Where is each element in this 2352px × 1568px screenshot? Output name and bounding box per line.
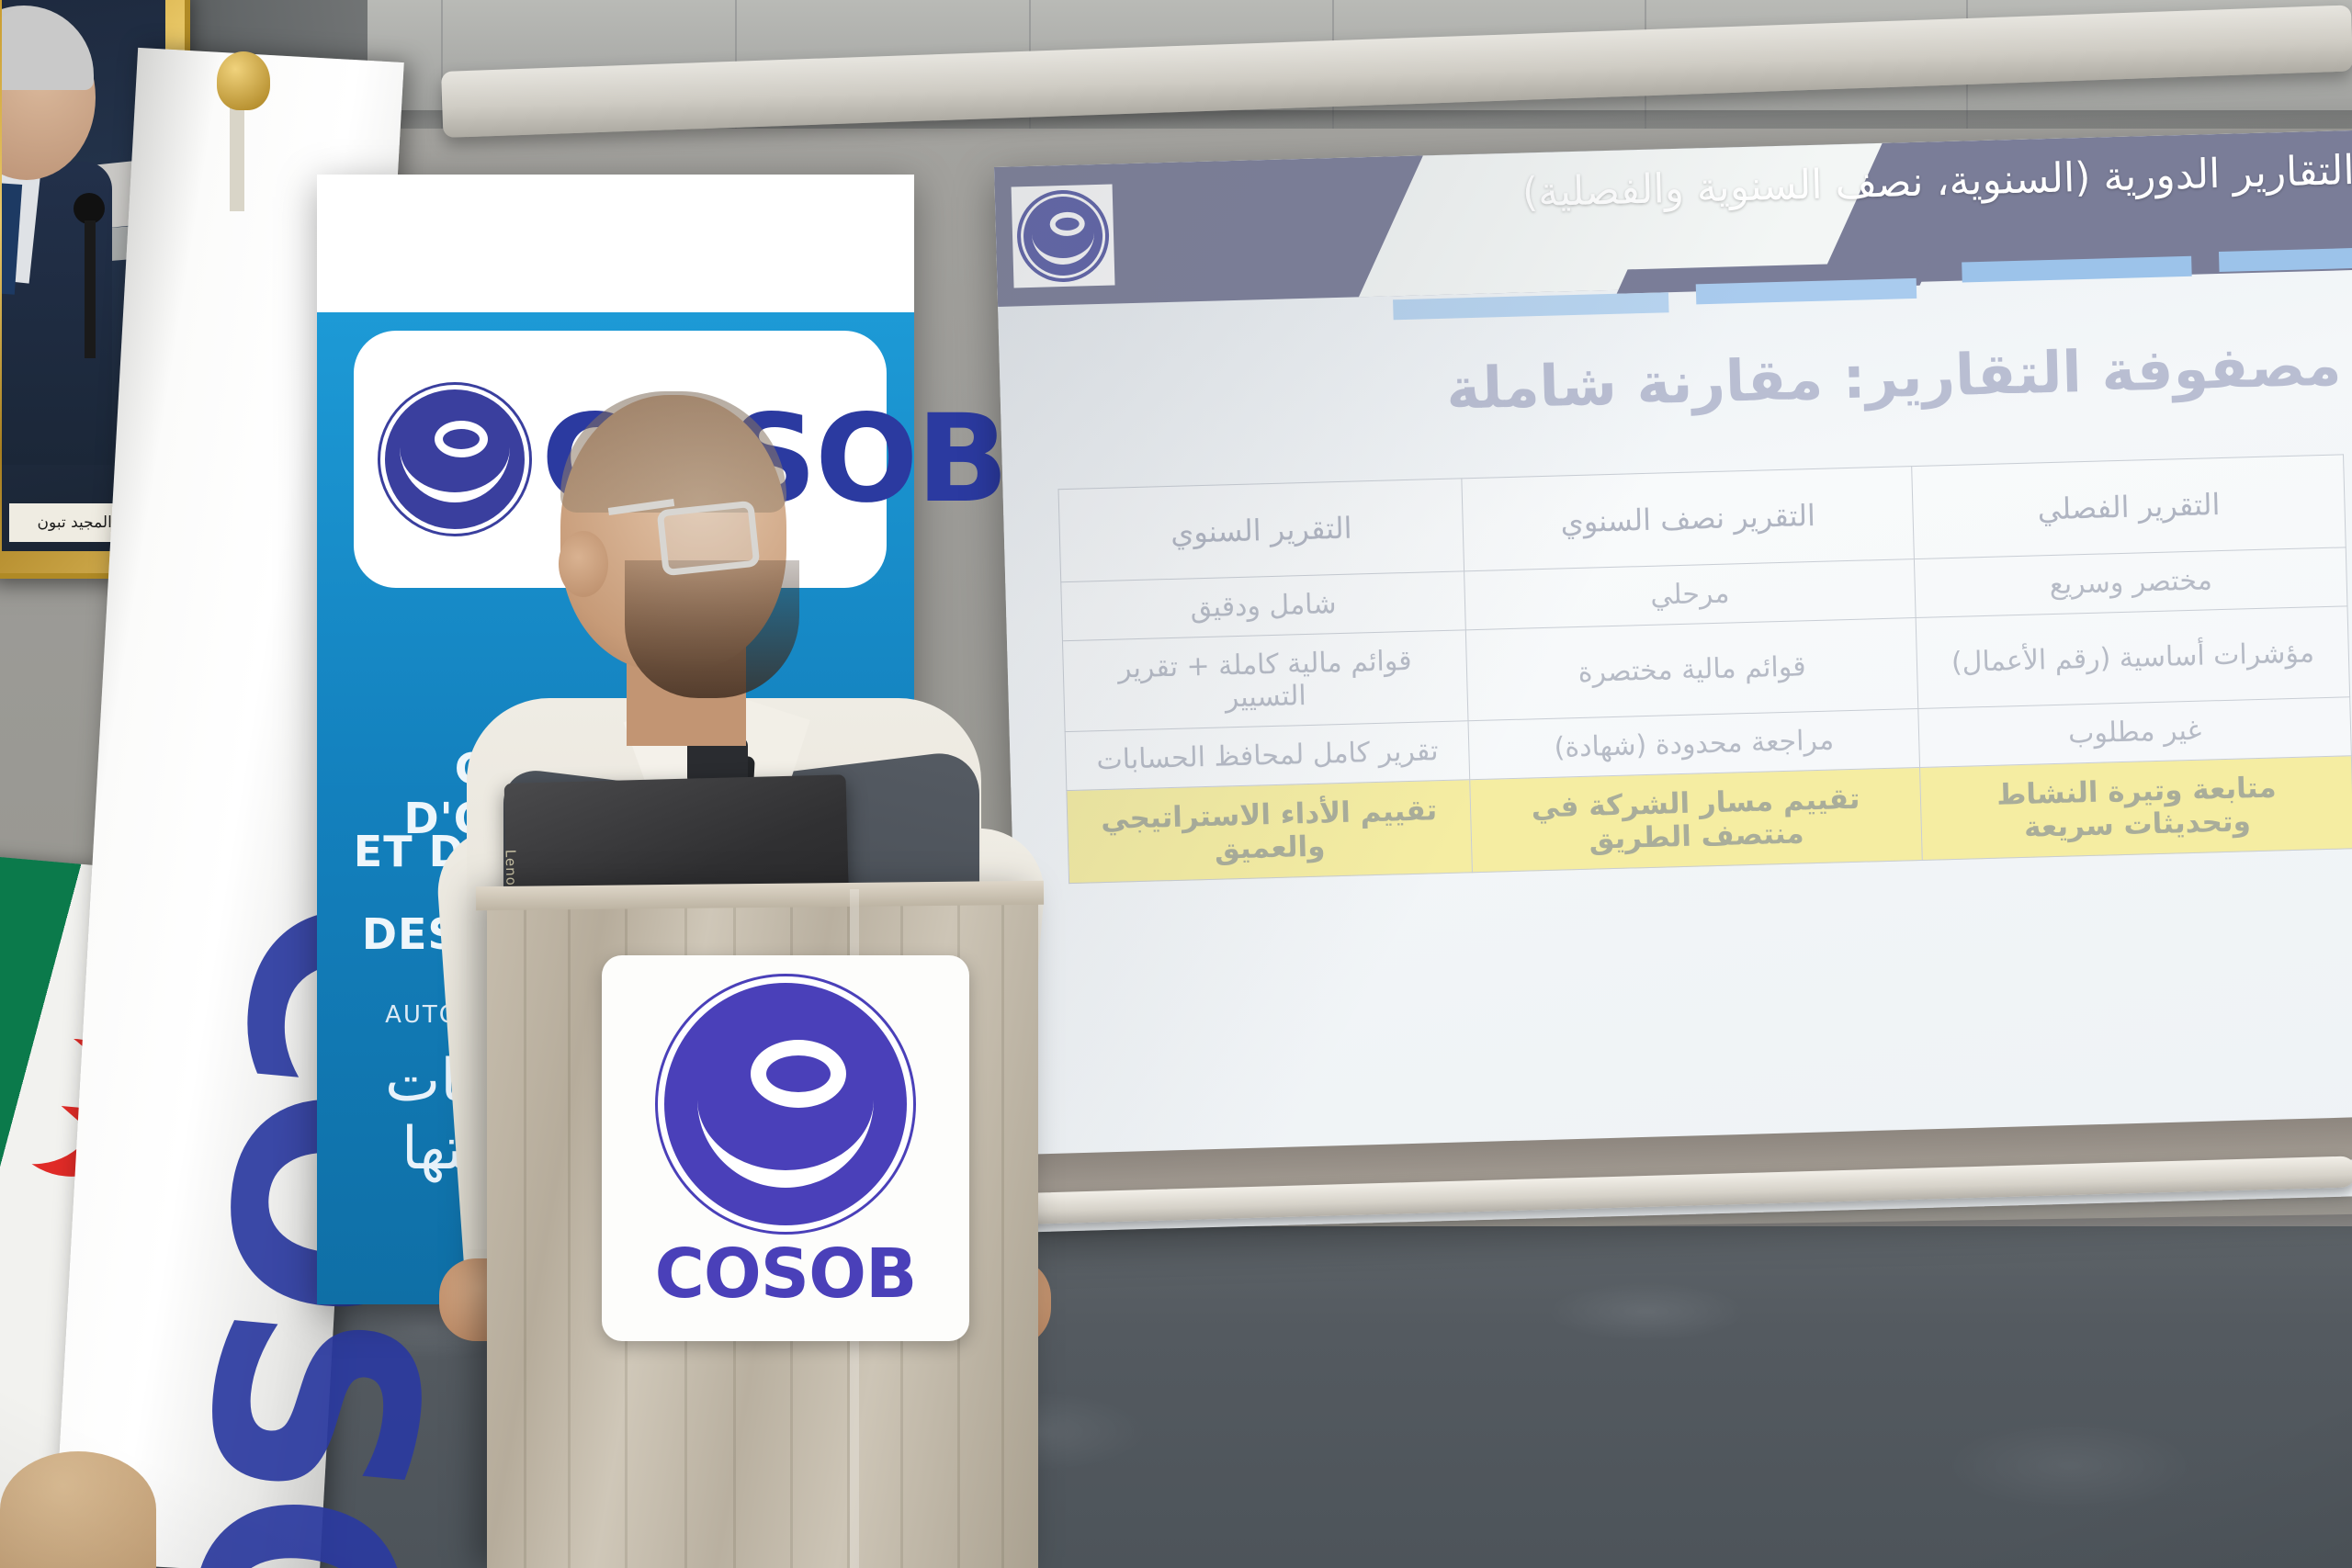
slide-accent-bar-4 xyxy=(1393,292,1668,320)
presenter-beard xyxy=(625,560,799,698)
column-header-semiannual: التقرير نصف السنوي xyxy=(1462,467,1915,571)
cosob-logo-icon xyxy=(1020,193,1106,279)
banner-top-white xyxy=(317,175,914,312)
portrait-microphone xyxy=(73,193,105,224)
slide-accent-bar-2 xyxy=(2219,247,2352,272)
table-cell: تقييم الأداء الاستراتيجي والعميق xyxy=(1067,780,1473,884)
table-cell: تقرير كامل لمحافظ الحسابات xyxy=(1065,721,1470,791)
projector-screen: التقارير الدورية (السنوية، نصف السنوية و… xyxy=(994,130,2352,1232)
table-cell: مؤشرات أساسية (رقم الأعمال) xyxy=(1916,606,2349,709)
table-cell: متابعة وتيرة النشاط وتحديثات سريعة xyxy=(1920,756,2352,861)
comparison-table: التقرير الفصلي التقرير نصف السنوي التقري… xyxy=(1057,454,2352,884)
portrait-microphone-stem xyxy=(85,220,96,358)
glasses-icon xyxy=(657,501,761,577)
podium-logo-word: COSOB xyxy=(655,1235,917,1314)
table-cell: تقييم مسار الشركة في منتصف الطريق xyxy=(1470,767,1923,872)
slide-title: مصفوفة التقارير: مقارنة شاملة xyxy=(1257,331,2343,427)
portrait-hair xyxy=(2,6,94,90)
flag-pole xyxy=(230,101,244,211)
cosob-logo-dot xyxy=(751,1040,846,1108)
table-cell: قوائم مالية مختصرة xyxy=(1465,618,1918,721)
table-cell: قوائم مالية كاملة + تقرير التسيير xyxy=(1062,630,1468,732)
cosob-logo-dot xyxy=(1049,211,1085,236)
presentation-slide: التقارير الدورية (السنوية، نصف السنوية و… xyxy=(994,130,2352,1232)
slide-logo-box xyxy=(1012,185,1115,288)
foreground-object xyxy=(0,1451,156,1568)
column-header-quarterly: التقرير الفصلي xyxy=(1912,455,2346,559)
column-header-annual: التقرير السنوي xyxy=(1058,479,1464,582)
presenter-ear xyxy=(559,531,608,597)
podium-logo-plate: COSOB xyxy=(602,955,969,1341)
presenter-hair xyxy=(560,391,786,513)
table-cell: شامل ودقيق xyxy=(1061,571,1466,641)
screenshot-stage: عبد المجيد تبون ★ COSOB COSOB COMMISSION… xyxy=(0,0,2352,1568)
cosob-logo-icon xyxy=(664,983,907,1225)
flag-finial xyxy=(217,51,270,110)
